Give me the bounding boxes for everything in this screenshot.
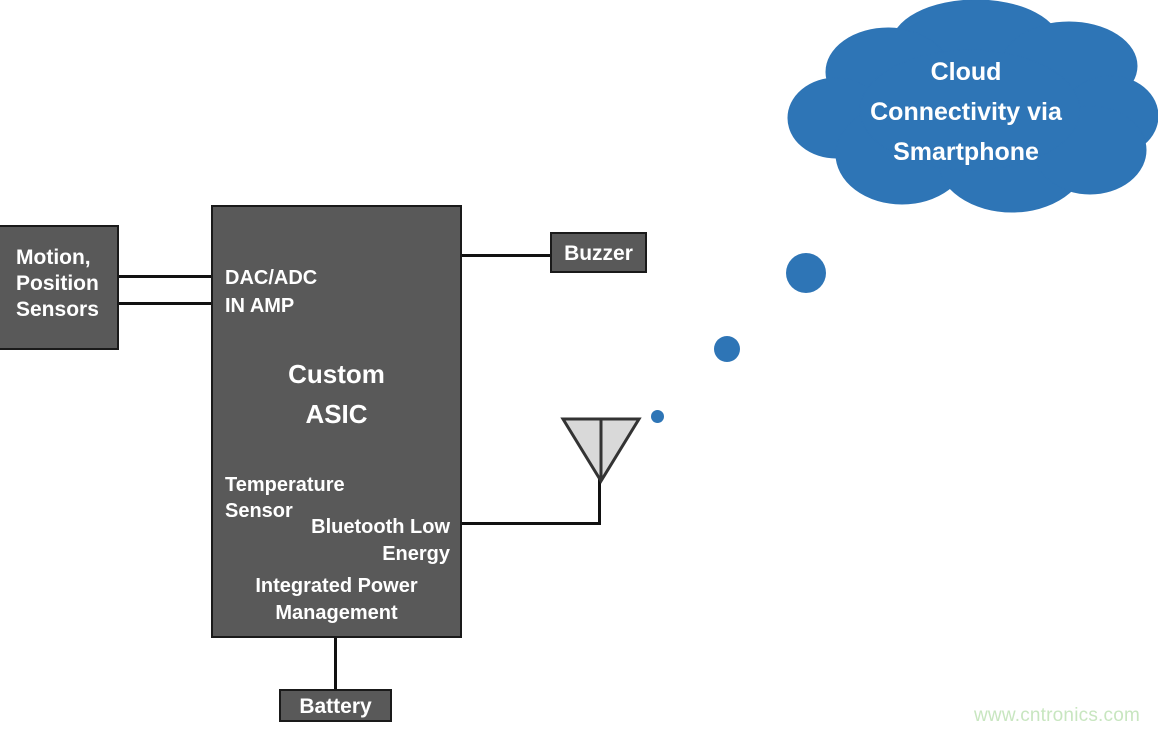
- cloud-connectivity-label: Cloud Connectivity via Smartphone: [836, 52, 1096, 172]
- block-motion-position-sensors-label: Motion, Position Sensors: [16, 245, 99, 323]
- asic-dac-adc-in-amp-label: DAC/ADC IN AMP: [225, 264, 317, 320]
- asic-integrated-power-management-label: Integrated Power Management: [213, 573, 460, 627]
- signal-dot-small-icon: [651, 410, 664, 423]
- block-buzzer: Buzzer: [550, 232, 647, 273]
- signal-dot-large-icon: [786, 253, 826, 293]
- block-battery: Battery: [279, 689, 392, 722]
- block-custom-asic: DAC/ADC IN AMP Custom ASIC Temperature S…: [211, 205, 462, 638]
- asic-title-label: Custom ASIC: [213, 354, 460, 434]
- signal-dot-medium-icon: [714, 336, 740, 362]
- asic-bluetooth-low-energy-label: Bluetooth Low Energy: [270, 514, 450, 568]
- antenna-icon: [560, 416, 642, 486]
- wire-sensors-to-asic-lower: [119, 302, 213, 305]
- diagram-canvas: Motion, Position Sensors DAC/ADC IN AMP …: [0, 0, 1158, 735]
- watermark-text: www.cntronics.com: [974, 705, 1140, 727]
- wire-asic-to-buzzer: [461, 254, 552, 257]
- block-battery-label: Battery: [281, 695, 390, 719]
- wire-sensors-to-asic-upper: [119, 275, 213, 278]
- block-motion-position-sensors: Motion, Position Sensors: [0, 225, 119, 350]
- block-buzzer-label: Buzzer: [552, 242, 645, 266]
- wire-asic-to-battery: [334, 637, 337, 690]
- wire-asic-to-antenna-horizontal: [461, 522, 601, 525]
